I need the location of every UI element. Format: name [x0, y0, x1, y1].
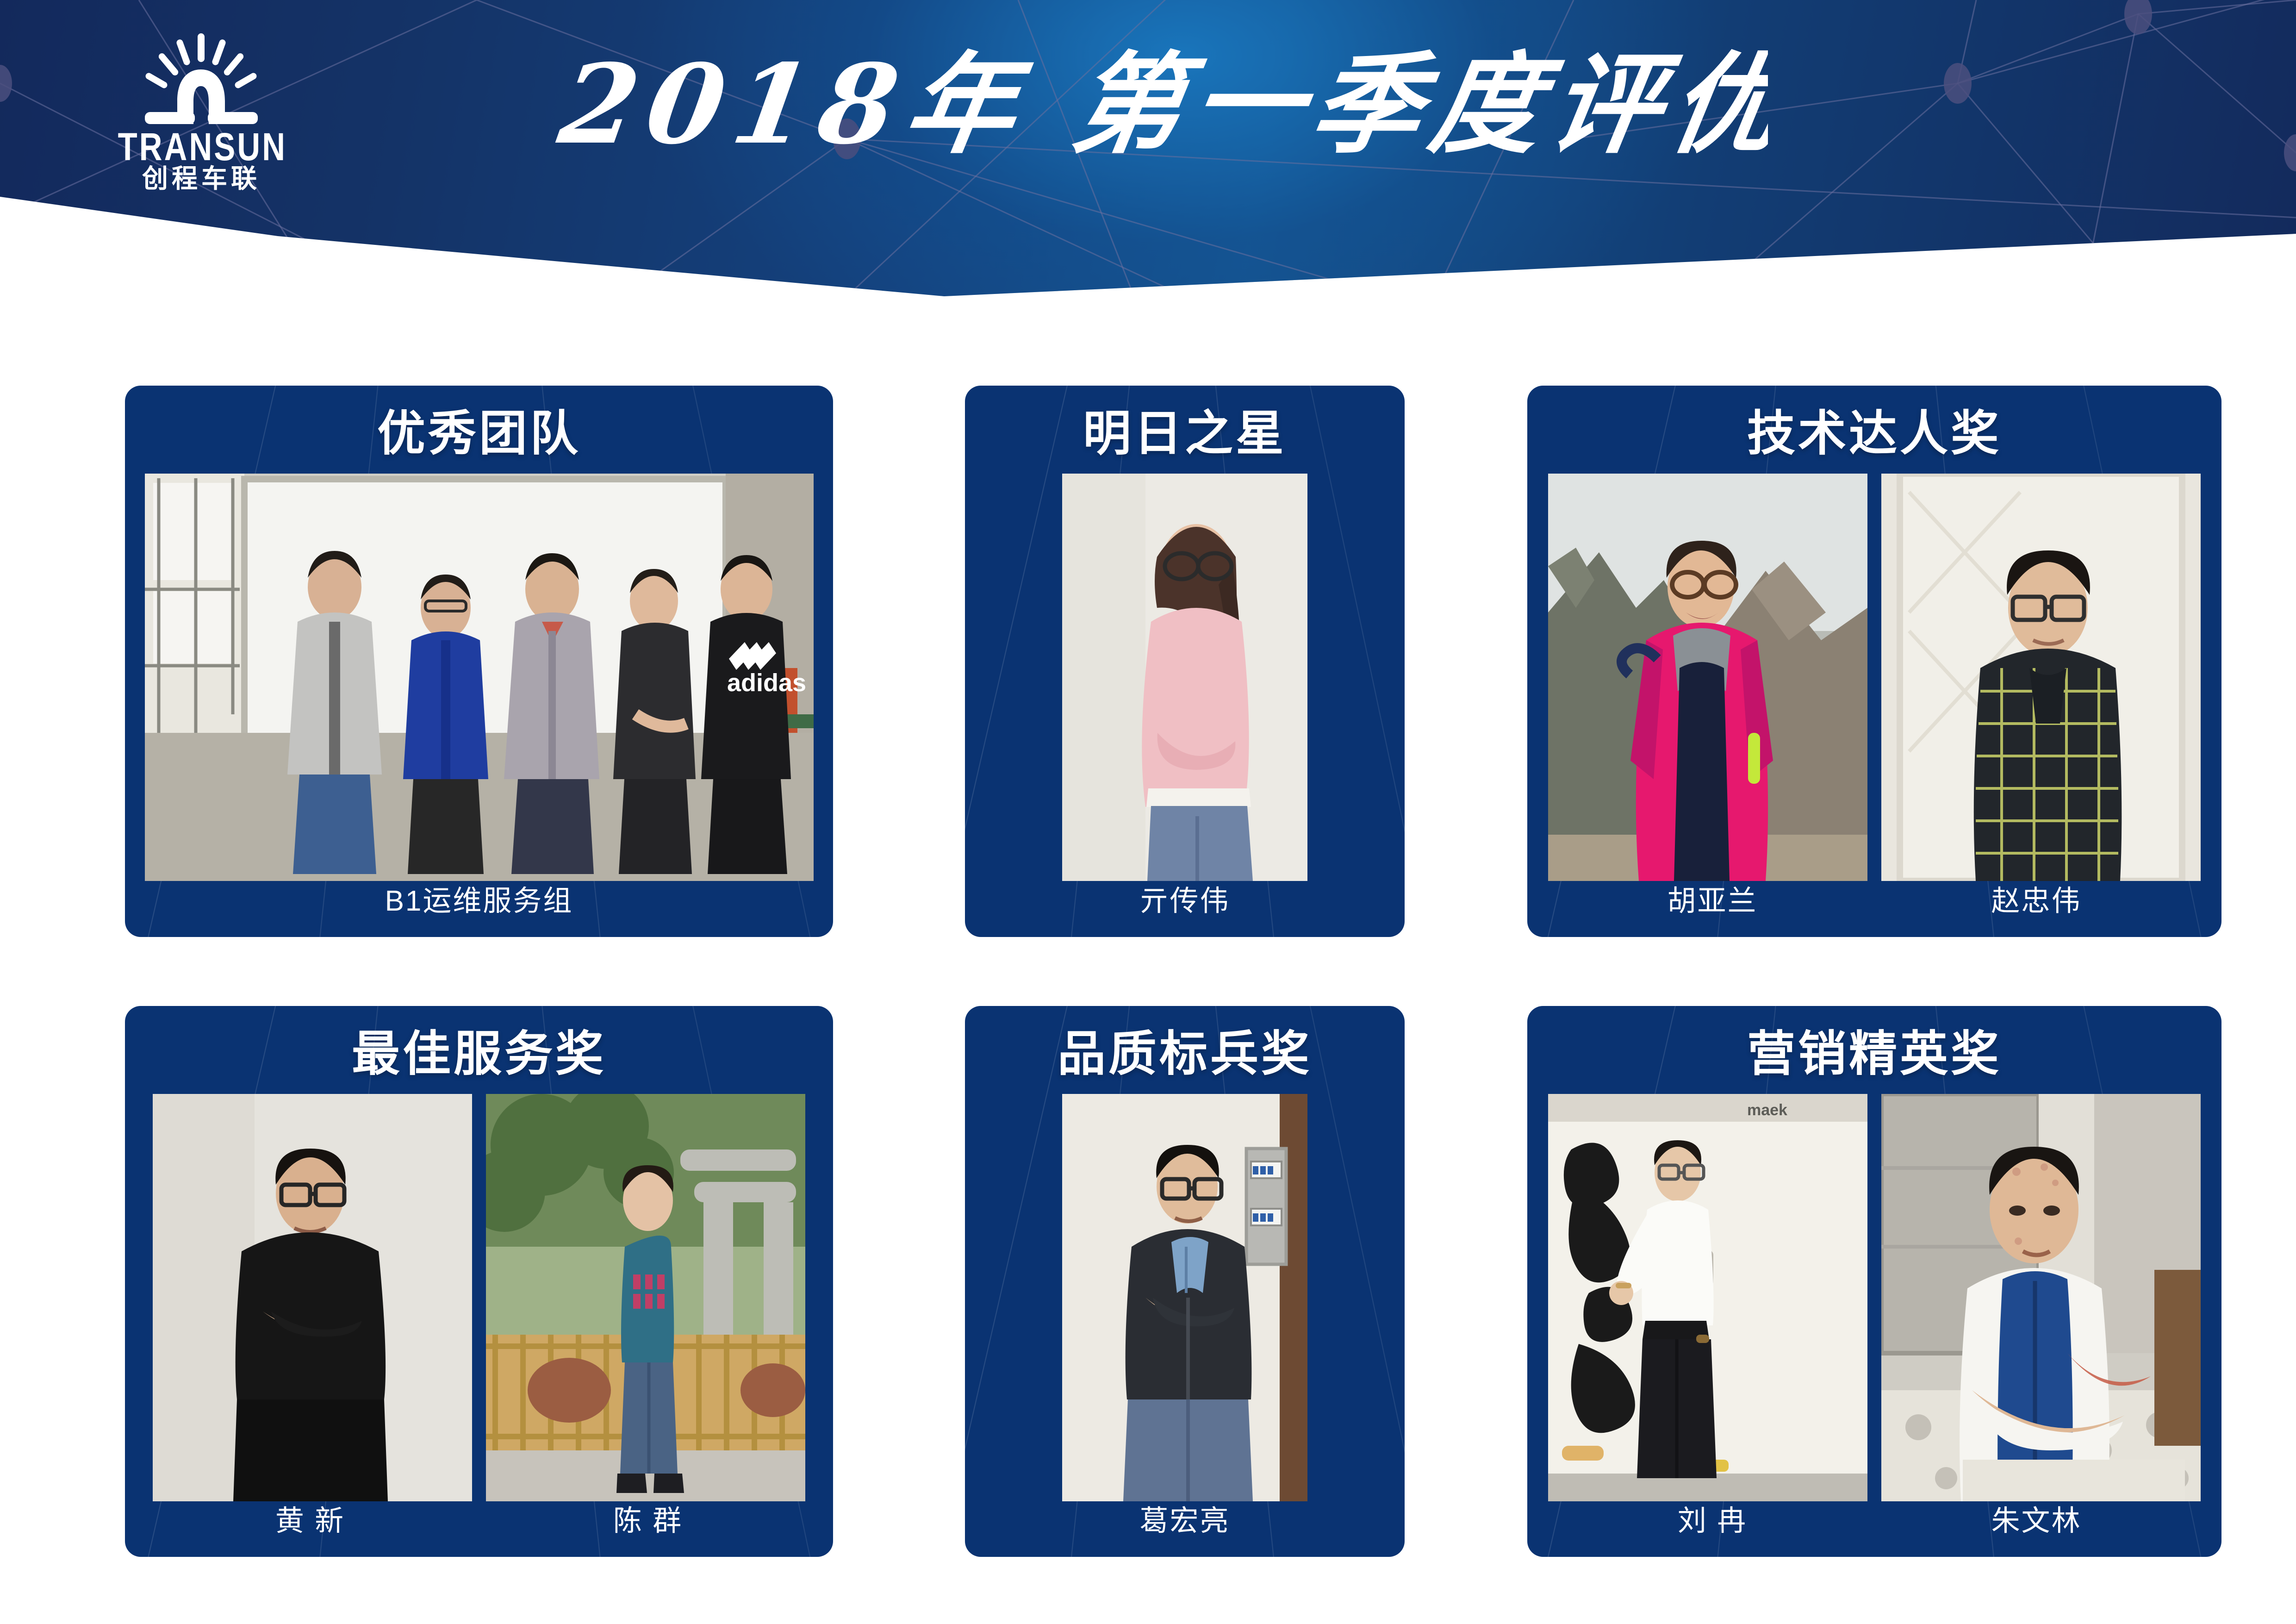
recipient-name: 亓传伟	[965, 887, 1405, 916]
award-poster: TRANSUN 创程车联 2018年 第一季度评优 优秀团队	[0, 0, 2296, 1624]
award-title: 优秀团队	[125, 409, 833, 459]
recipient-name-left: 胡亚兰	[1553, 887, 1872, 916]
awards-grid: 优秀团队	[0, 386, 2296, 1557]
award-card-star-of-tomorrow[interactable]: 明日之星	[965, 386, 1405, 937]
award-title: 明日之星	[965, 409, 1405, 459]
award-title: 最佳服务奖	[125, 1029, 833, 1080]
recipient-name-right: 赵忠伟	[1877, 887, 2196, 916]
award-photo-right	[1881, 474, 2201, 881]
recipient-name-left: 黄 新	[150, 1507, 470, 1536]
award-card-quality-model[interactable]: 品质标兵奖	[965, 1006, 1405, 1557]
recipient-name-right: 朱文林	[1877, 1507, 2196, 1536]
award-card-technical-expert[interactable]: 技术达人奖	[1527, 386, 2221, 937]
award-photo-left	[153, 1094, 472, 1501]
award-card-best-service[interactable]: 最佳服务奖	[125, 1006, 833, 1557]
recipient-name-right: 陈 群	[488, 1507, 808, 1536]
recipient-name: B1运维服务组	[125, 887, 833, 916]
award-photo-left	[1548, 474, 1867, 881]
award-title: 品质标兵奖	[965, 1029, 1405, 1080]
brand-logo: TRANSUN 创程车联	[100, 32, 303, 190]
svg-text:adidas: adidas	[727, 669, 806, 697]
award-photo	[1062, 474, 1307, 881]
header-banner: TRANSUN 创程车联 2018年 第一季度评优	[0, 0, 2296, 296]
award-photo-right	[1881, 1094, 2201, 1501]
brand-name-cn: 创程车联	[100, 166, 303, 192]
page-title: 2018年 第一季度评优	[546, 28, 1768, 181]
award-photo: adidas	[145, 474, 814, 881]
award-card-excellent-team[interactable]: 优秀团队	[125, 386, 833, 937]
award-title: 技术达人奖	[1527, 409, 2221, 459]
recipient-name-left: 刘 冉	[1553, 1507, 1872, 1536]
award-card-marketing-elite[interactable]: 营销精英奖 maek	[1527, 1006, 2221, 1557]
award-photo	[1062, 1094, 1307, 1501]
svg-text:maek: maek	[1747, 1101, 1787, 1119]
award-title: 营销精英奖	[1527, 1029, 2221, 1080]
brand-name-en: TRANSUN	[118, 127, 285, 166]
page-title-calligraphy: 2018年 第一季度评优	[546, 28, 1768, 181]
award-photo-right	[486, 1094, 805, 1501]
award-photo-left: maek	[1548, 1094, 1867, 1501]
sunrise-icon	[141, 32, 261, 130]
page-title-text: 2018年 第一季度评优	[551, 40, 1768, 169]
recipient-name: 葛宏亮	[965, 1507, 1405, 1536]
